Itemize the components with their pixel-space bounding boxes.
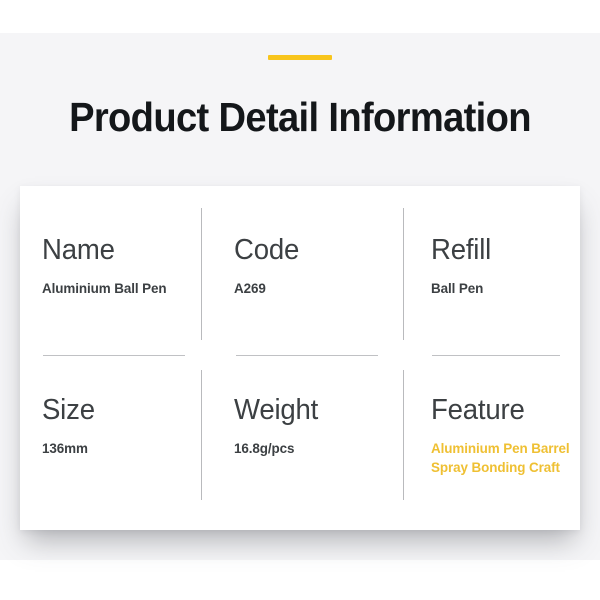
horizontal-divider-col1 bbox=[43, 355, 185, 356]
vertical-divider-col2-row2 bbox=[403, 370, 404, 500]
detail-value-feature-line-2: Spray Bonding Craft bbox=[431, 458, 575, 477]
detail-label-feature: Feature bbox=[431, 394, 574, 426]
product-detail-page: Product Detail Information Name Aluminiu… bbox=[0, 0, 600, 600]
detail-cell-size: Size 136mm bbox=[42, 394, 202, 458]
title-accent-bar bbox=[268, 55, 332, 60]
detail-value-code: A269 bbox=[234, 279, 388, 298]
detail-label-refill: Refill bbox=[431, 234, 574, 266]
vertical-divider-col2-row1 bbox=[403, 208, 404, 340]
detail-value-refill: Ball Pen bbox=[431, 279, 575, 298]
detail-label-size: Size bbox=[42, 394, 194, 426]
horizontal-divider-col3 bbox=[432, 355, 560, 356]
detail-cell-weight: Weight 16.8g/pcs bbox=[234, 394, 394, 458]
detail-label-code: Code bbox=[234, 234, 386, 266]
detail-label-weight: Weight bbox=[234, 394, 386, 426]
detail-value-weight: 16.8g/pcs bbox=[234, 439, 388, 458]
detail-cell-refill: Refill Ball Pen bbox=[431, 234, 581, 298]
detail-value-feature-line-1: Aluminium Pen Barrel bbox=[431, 439, 575, 458]
product-detail-card: Name Aluminium Ball Pen Code A269 Refill… bbox=[20, 186, 580, 530]
horizontal-divider-col2 bbox=[236, 355, 378, 356]
detail-value-size: 136mm bbox=[42, 439, 196, 458]
page-title: Product Detail Information bbox=[21, 92, 579, 142]
detail-value-name: Aluminium Ball Pen bbox=[42, 279, 196, 298]
detail-cell-feature: Feature Aluminium Pen Barrel Spray Bondi… bbox=[431, 394, 581, 477]
detail-label-name: Name bbox=[42, 234, 194, 266]
detail-value-feature: Aluminium Pen Barrel Spray Bonding Craft bbox=[431, 439, 575, 477]
detail-cell-code: Code A269 bbox=[234, 234, 394, 298]
detail-grid: Name Aluminium Ball Pen Code A269 Refill… bbox=[20, 186, 580, 530]
detail-cell-name: Name Aluminium Ball Pen bbox=[42, 234, 202, 298]
